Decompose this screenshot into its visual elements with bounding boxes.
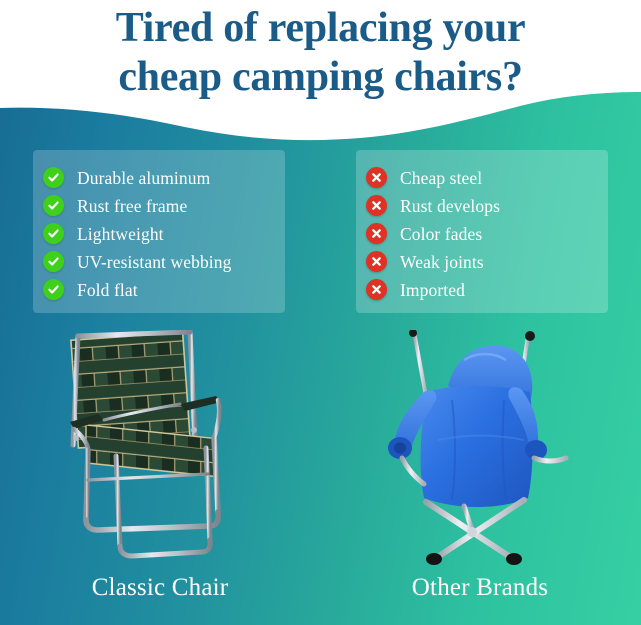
list-item: Rust free frame (43, 192, 275, 219)
cons-item-label: Color fades (400, 224, 482, 244)
cons-item-label: Cheap steel (400, 168, 482, 188)
list-item: Durable aluminum (43, 164, 275, 191)
cons-item-label: Weak joints (400, 252, 484, 272)
list-item: Weak joints (366, 248, 598, 275)
check-circle-icon (43, 167, 64, 188)
pros-item-label: Fold flat (77, 280, 138, 300)
list-item: Cheap steel (366, 164, 598, 191)
cons-panel: Cheap steel Rust develops Color fades We… (356, 150, 608, 313)
cross-circle-icon (366, 279, 387, 300)
headline-line-1: Tired of replacing your (0, 4, 641, 53)
page-title: Tired of replacing your cheap camping ch… (0, 4, 641, 102)
list-item: Rust develops (366, 192, 598, 219)
cons-item-label: Rust develops (400, 196, 500, 216)
pros-item-label: UV-resistant webbing (77, 252, 231, 272)
check-circle-icon (43, 279, 64, 300)
classic-chair-caption: Classic Chair (20, 573, 300, 603)
check-circle-icon (43, 251, 64, 272)
list-item: UV-resistant webbing (43, 248, 275, 275)
list-item: Lightweight (43, 220, 275, 247)
pros-item-label: Rust free frame (77, 196, 187, 216)
list-item: Color fades (366, 220, 598, 247)
cons-item-label: Imported (400, 280, 465, 300)
pros-item-label: Durable aluminum (77, 168, 210, 188)
cross-circle-icon (366, 251, 387, 272)
list-item: Imported (366, 276, 598, 303)
pros-panel: Durable aluminum Rust free frame Lightwe… (33, 150, 285, 313)
other-brands-caption: Other Brands (340, 573, 620, 603)
comparison-infographic: Tired of replacing your cheap camping ch… (0, 0, 641, 625)
cross-circle-icon (366, 167, 387, 188)
check-circle-icon (43, 223, 64, 244)
other-brands-chair-image (352, 330, 584, 565)
pros-item-label: Lightweight (77, 224, 164, 244)
list-item: Fold flat (43, 276, 275, 303)
cross-circle-icon (366, 195, 387, 216)
classic-chair-image (58, 330, 268, 565)
headline-line-2: cheap camping chairs? (0, 53, 641, 102)
check-circle-icon (43, 195, 64, 216)
cross-circle-icon (366, 223, 387, 244)
